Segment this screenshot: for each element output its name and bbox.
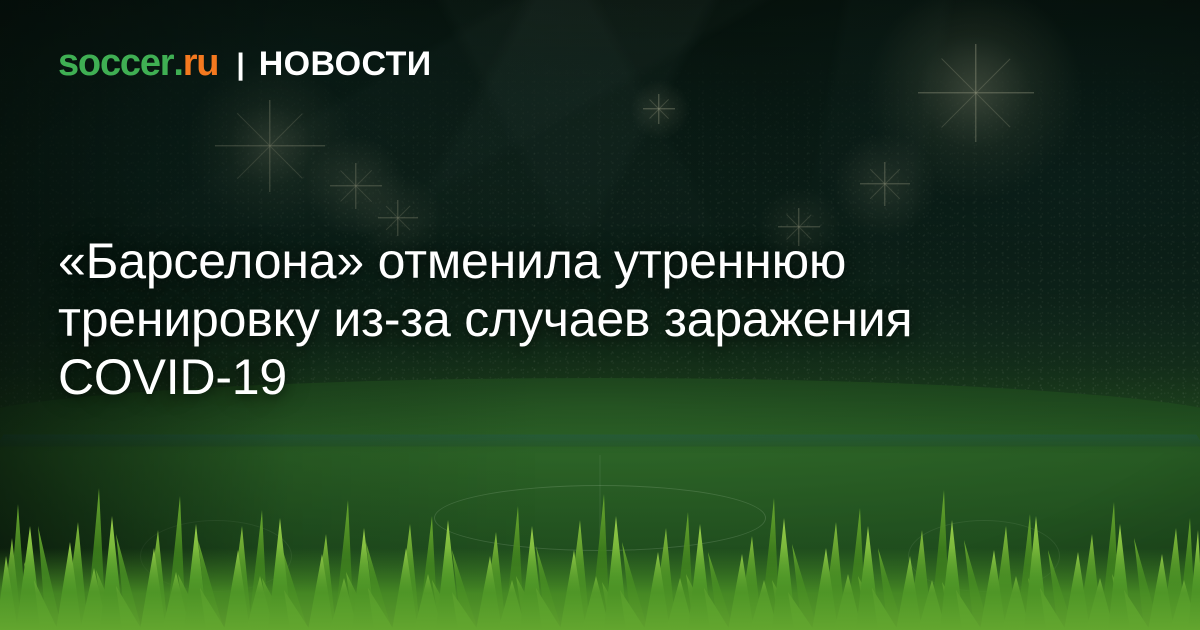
news-share-card: soccer . ru | НОВОСТИ «Барселона» отмени… <box>0 0 1200 630</box>
floodlight-starburst-icon <box>643 94 675 124</box>
pitch-penalty-arc-right <box>908 520 1060 592</box>
logo-separator: | <box>236 50 244 80</box>
pitch-center-circle <box>434 485 766 551</box>
section-label-news: НОВОСТИ <box>259 47 432 81</box>
logo-word-ru: ru <box>183 44 219 82</box>
floodlight-starburst-icon <box>378 200 418 236</box>
floodlight-starburst-icon <box>860 162 910 206</box>
article-headline: «Барселона» отменила утреннюю тренировку… <box>58 232 1068 406</box>
floodlight-starburst-icon <box>918 44 1034 142</box>
site-logo[interactable]: soccer . ru | НОВОСТИ <box>58 44 432 82</box>
logo-dot: . <box>173 44 182 82</box>
pitch-penalty-arc-left <box>140 520 292 592</box>
stadium-advertising-band <box>0 435 1200 447</box>
logo-word-soccer: soccer <box>58 44 173 82</box>
floodlight-starburst-icon <box>215 100 325 192</box>
floodlight-starburst-icon <box>330 163 382 209</box>
